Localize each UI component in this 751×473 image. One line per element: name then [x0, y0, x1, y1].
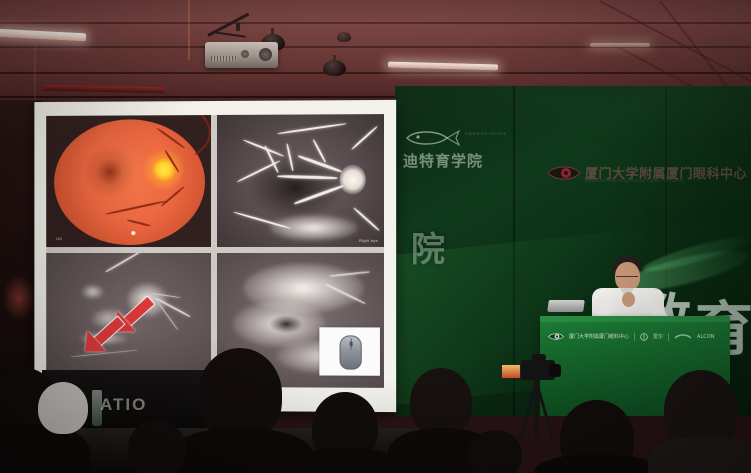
- water-bottle: [92, 390, 102, 426]
- slide-corner-label-left: OD: [56, 236, 62, 241]
- audience-head-3: [198, 348, 282, 440]
- speaker-glasses-icon: [616, 272, 638, 277]
- podium-logo-text: 厦门大学附属厦门眼科中心: [569, 333, 629, 340]
- slide-corner-label-right: Right eye: [359, 238, 378, 243]
- sponsor-2-text: ALCON: [697, 334, 714, 340]
- camera-screen: [501, 364, 521, 379]
- audience-head-8: [128, 420, 186, 473]
- college-banner-cn: 迪特育学院: [403, 150, 483, 171]
- podium-laptop: [547, 300, 585, 312]
- fish-logo-icon: [403, 128, 463, 148]
- eye-logo-icon: [547, 164, 581, 182]
- light-bar-left-icon: [0, 29, 86, 42]
- audience-head-2: [38, 382, 88, 434]
- audience-head-9: [468, 430, 522, 473]
- audience-head-5: [410, 368, 472, 436]
- dome-speaker-3-icon: [337, 32, 351, 42]
- light-bar-far-right-icon: [590, 43, 650, 47]
- slide-area: OD Right eye: [46, 114, 384, 388]
- venue-logo: 厦门大学附属厦门眼科中心 XIAMEN UNIVERSITY AFFILIATE…: [547, 164, 581, 187]
- slide-quadrant-1: OD: [46, 115, 211, 247]
- screenshot-root: XIAMEN EYE COLLEGE 迪特育学院 院 厦门大学附属厦门眼科中心 …: [0, 0, 751, 473]
- mouse-cursor-overlay-icon: [319, 327, 380, 375]
- audience-shoulder-7: [648, 436, 751, 473]
- fundus-color-photo: [54, 119, 205, 245]
- sponsor-2-icon: [674, 333, 692, 341]
- slide-quadrant-2: Right eye: [217, 114, 384, 247]
- wall-logo-icon: [2, 275, 36, 321]
- venue-banner-en: XIAMEN UNIVERSITY AFFILIATED XIAMEN EYE …: [585, 179, 684, 183]
- backdrop-partial-char: 院: [411, 222, 445, 271]
- sponsor-1-icon: [640, 333, 648, 341]
- light-bar-right-icon: [388, 62, 498, 71]
- dome-speaker-2-icon: [323, 60, 346, 76]
- projector-icon: [205, 42, 278, 68]
- sponsor-1-text: 爱尔: [653, 333, 663, 340]
- podium-logo-row: 厦门大学附属厦门眼科中心 爱尔 ALCON: [548, 332, 714, 341]
- left-wall-sign-text: ATIO: [100, 395, 147, 415]
- slide-quadrant-3: [46, 253, 211, 387]
- college-banner-en: XIAMEN EYE COLLEGE: [465, 132, 506, 136]
- speaker-hand: [622, 292, 635, 307]
- podium-eye-logo-icon: [548, 332, 564, 341]
- audience-shoulder-6: [534, 454, 662, 473]
